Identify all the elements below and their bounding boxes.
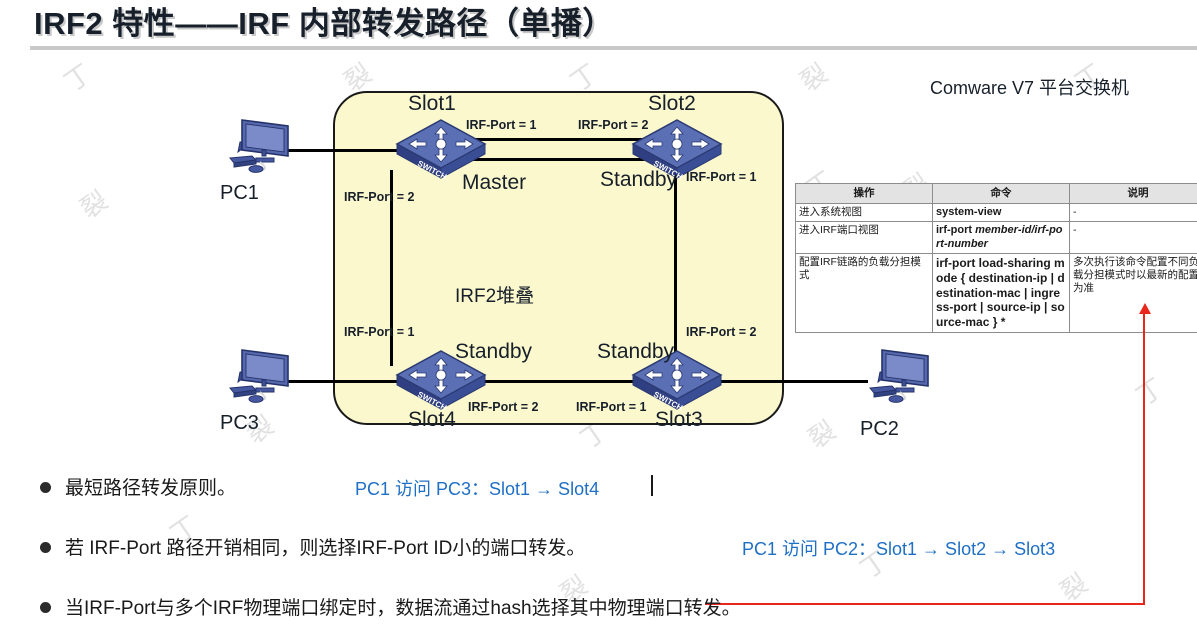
cell-operation: 进入系统视图 [796,203,933,221]
port-label-bottom-left: IRF-Port = 2 [468,400,539,414]
bullet-marker [40,482,51,493]
table-header-command: 命令 [933,184,1070,204]
bullet-text-3: 当IRF-Port与多个IRF物理端口绑定时，数据流通过hash选择其中物理端口… [65,593,741,620]
slot4-label: Slot4 [408,408,456,432]
port-label-left-lower: IRF-Port = 1 [344,325,415,339]
command-table: 操作 命令 说明 进入系统视图 system-view - 进入IRF端口视图 … [795,183,1197,333]
comware-caption: Comware V7 平台交换机 [930,74,1129,100]
text-caret [651,475,653,496]
bullet-note-2: PC1 访问 PC2：Slot1 → Slot2 → Slot3 [742,535,1055,561]
slot1-role: Master [462,171,526,195]
slot2-label: Slot2 [648,92,696,116]
cell-command: system-view [933,203,1070,221]
stack-label: IRF2堆叠 [455,281,534,308]
bullet-note-1: PC1 访问 PC3：Slot1 → Slot4 [355,475,599,501]
callout-line-vertical [1143,313,1145,605]
slot1-label: Slot1 [408,92,456,116]
pc2-icon[interactable] [856,342,940,414]
table-header-row: 操作 命令 说明 [796,184,1197,204]
link-slot2-slot3 [674,170,677,366]
cmd-bold: system-view [936,206,1001,218]
slot4-role: Standby [455,340,532,364]
pc3-label: PC3 [220,412,259,435]
bullet-text-1: 最短路径转发原则。 [65,473,236,500]
cell-description: - [1070,203,1197,221]
pc1-icon[interactable] [216,112,300,184]
table-row: 配置IRF链路的负载分担模式 irf-port load-sharing mod… [796,254,1197,333]
cell-description: 多次执行该命令配置不同负载分担模式时以最新的配置为准 [1070,254,1197,333]
cell-command: irf-port load-sharing mode { destination… [933,254,1070,333]
bullet-marker [40,542,51,553]
port-label-right-upper: IRF-Port = 1 [686,170,757,184]
watermark: 裂 [800,411,843,456]
page-title: IRF2 特性——IRF 内部转发路径（单播） [34,0,614,43]
table-header-operation: 操作 [796,184,933,204]
callout-arrow-icon [1139,303,1151,314]
slot3-label: Slot3 [655,408,703,432]
pc1-label: PC1 [220,182,259,205]
port-label-top-right: IRF-Port = 2 [578,118,649,132]
watermark: 丁 [56,54,99,99]
pc2-label: PC2 [860,418,899,441]
bullet-marker [40,602,51,613]
pc3-icon[interactable] [216,342,300,414]
table-row: 进入IRF端口视图 irf-port member-id/irf-port-nu… [796,222,1197,254]
cmd-bold: irf-port [936,224,975,236]
port-label-bottom-right: IRF-Port = 1 [576,400,647,414]
callout-line-horizontal [705,603,1145,605]
link-slot1-slot2-lower [471,158,653,161]
slot2-role: Standby [600,168,677,192]
link-slot1-slot2-upper [471,138,653,141]
bullet-text-2: 若 IRF-Port 路径开销相同，则选择IRF-Port ID小的端口转发。 [65,533,585,560]
slot3-role: Standby [597,340,674,364]
watermark: 裂 [72,181,115,226]
watermark: 裂 [792,54,835,99]
watermark: 丁 [1128,368,1171,413]
link-slot3-pc2 [700,380,868,383]
table-header-description: 说明 [1070,184,1197,204]
cell-description: - [1070,222,1197,254]
port-label-right-lower: IRF-Port = 2 [686,325,757,339]
cell-operation: 配置IRF链路的负载分担模式 [796,254,933,333]
table-row: 进入系统视图 system-view - [796,203,1197,221]
title-divider [30,46,1197,50]
cell-operation: 进入IRF端口视图 [796,222,933,254]
port-label-left-upper: IRF-Port = 2 [344,190,415,204]
port-label-top-left: IRF-Port = 1 [466,118,537,132]
cell-command: irf-port member-id/irf-port-number [933,222,1070,254]
